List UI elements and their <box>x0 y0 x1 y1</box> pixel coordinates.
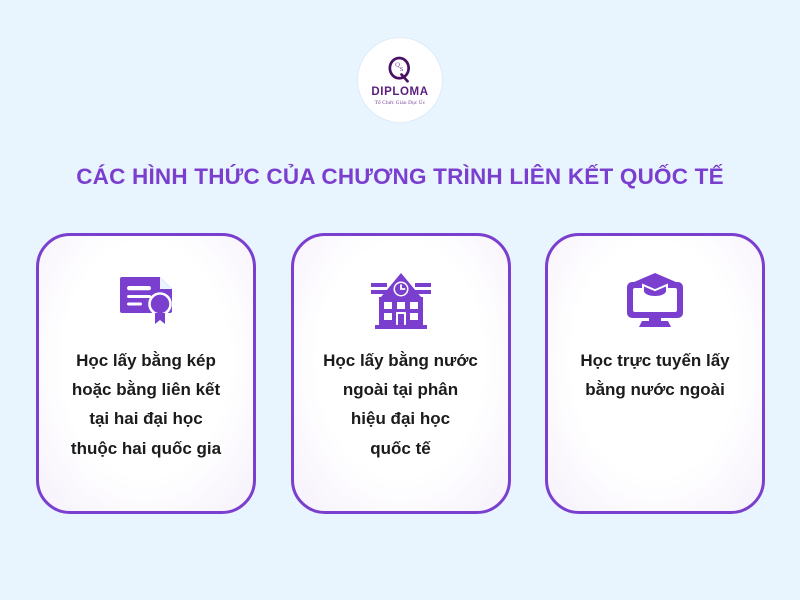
card-list: Học lấy bằng kép hoặc bằng liên kết tại … <box>36 233 765 514</box>
certificate-icon <box>116 264 176 336</box>
card-text: Học lấy bằng nước ngoài tại phân hiệu đạ… <box>309 346 492 463</box>
logo-monogram-icon: Q S <box>385 55 415 85</box>
page-title: CÁC HÌNH THỨC CỦA CHƯƠNG TRÌNH LIÊN KẾT … <box>0 164 800 190</box>
card-text: Học lấy bằng kép hoặc bằng liên kết tại … <box>57 346 235 463</box>
card-dual-degree: Học lấy bằng kép hoặc bằng liên kết tại … <box>36 233 256 514</box>
card-text: Học trực tuyến lấy bằng nước ngoài <box>566 346 743 404</box>
online-learning-monitor-icon <box>624 264 686 336</box>
card-branch-campus: Học lấy bằng nước ngoài tại phân hiệu đạ… <box>291 233 511 514</box>
school-building-icon <box>369 264 433 336</box>
infographic-page: Q S DIPLOMA Tổ Chức Giáo Dục Úc CÁC HÌNH… <box>0 0 800 600</box>
logo-container: Q S DIPLOMA Tổ Chức Giáo Dục Úc <box>0 38 800 122</box>
logo-tagline: Tổ Chức Giáo Dục Úc <box>375 101 426 106</box>
logo-badge: Q S DIPLOMA Tổ Chức Giáo Dục Úc <box>358 38 442 122</box>
card-online-degree: Học trực tuyến lấy bằng nước ngoài <box>545 233 765 514</box>
logo-name: DIPLOMA <box>371 87 428 99</box>
svg-text:S: S <box>400 66 404 73</box>
